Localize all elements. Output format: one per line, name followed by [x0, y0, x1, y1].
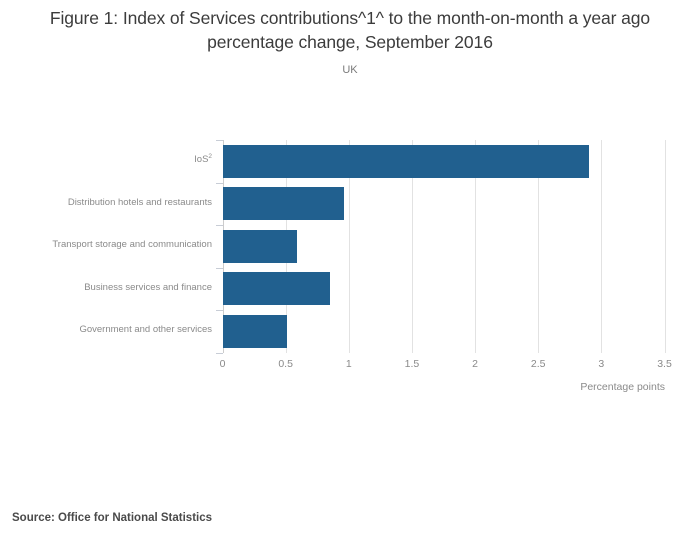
- y-axis-label-1: IoS2: [0, 154, 212, 165]
- chart-plot: IoS2Distribution hotels and restaurantsT…: [0, 0, 700, 549]
- gridline-3: [601, 140, 602, 353]
- y-axis-tick-1: [216, 140, 223, 141]
- bar-5[interactable]: [223, 315, 287, 348]
- superscript-marker: 2: [208, 153, 212, 160]
- y-axis-tick-2: [216, 183, 223, 184]
- bar-1[interactable]: [223, 145, 589, 178]
- x-axis-tick-label-2: 0.5: [266, 358, 306, 370]
- gridline-3-5: [665, 140, 666, 353]
- y-axis-label-2: Distribution hotels and restaurants: [0, 197, 212, 208]
- x-axis-tick-label-5: 2: [455, 358, 495, 370]
- y-axis-tick-end: [216, 353, 223, 354]
- x-axis-tick-label-1: 0: [203, 358, 243, 370]
- x-axis-tick-label-7: 3: [581, 358, 621, 370]
- bar-2[interactable]: [223, 187, 344, 220]
- y-axis-tick-5: [216, 310, 223, 311]
- y-axis-label-4: Business services and finance: [0, 282, 212, 293]
- y-axis-tick-4: [216, 268, 223, 269]
- y-axis-label-5: Government and other services: [0, 324, 212, 335]
- x-axis-tick-label-3: 1: [329, 358, 369, 370]
- x-axis-title: Percentage points: [465, 381, 665, 393]
- y-axis-label-3: Transport storage and communication: [0, 239, 212, 250]
- x-axis-tick-label-6: 2.5: [518, 358, 558, 370]
- x-axis-tick-label-8: 3.5: [645, 358, 685, 370]
- source-note: Source: Office for National Statistics: [12, 512, 212, 524]
- x-axis-tick-label-4: 1.5: [392, 358, 432, 370]
- bar-4[interactable]: [223, 272, 330, 305]
- bar-3[interactable]: [223, 230, 298, 263]
- y-axis-tick-3: [216, 225, 223, 226]
